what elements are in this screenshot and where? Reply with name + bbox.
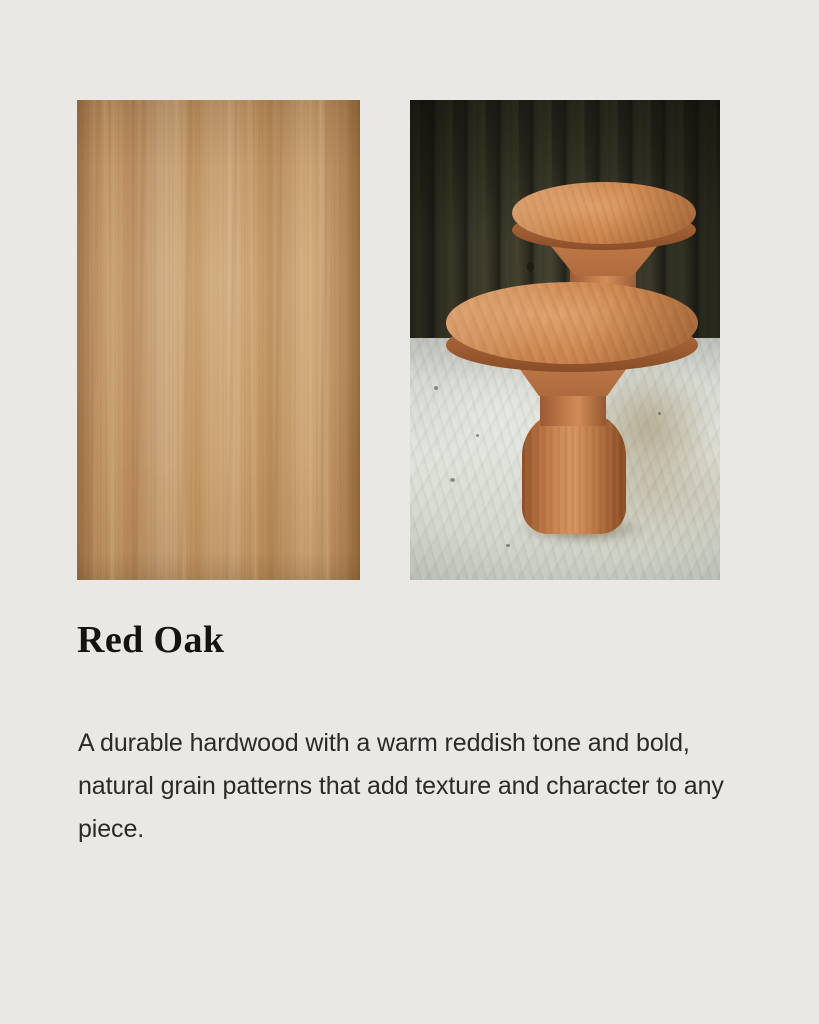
table-front-tabletop-sheen: [446, 282, 698, 364]
material-description: A durable hardwood with a warm reddish t…: [78, 722, 758, 851]
side-table-front: [446, 282, 698, 580]
media-row: [77, 100, 720, 580]
table-front-pedestal-base: [522, 410, 626, 534]
table-back-tabletop-sheen: [512, 182, 696, 244]
red-oak-wood-grain-swatch: [77, 100, 360, 580]
red-oak-side-tables-photo: [410, 100, 720, 580]
material-title: Red Oak: [77, 617, 224, 663]
photo-scene: [410, 100, 720, 580]
floor-speck: [434, 386, 438, 390]
swatch-sheen-overlay: [77, 100, 360, 580]
material-card: Red Oak A durable hardwood with a warm r…: [0, 0, 819, 1024]
